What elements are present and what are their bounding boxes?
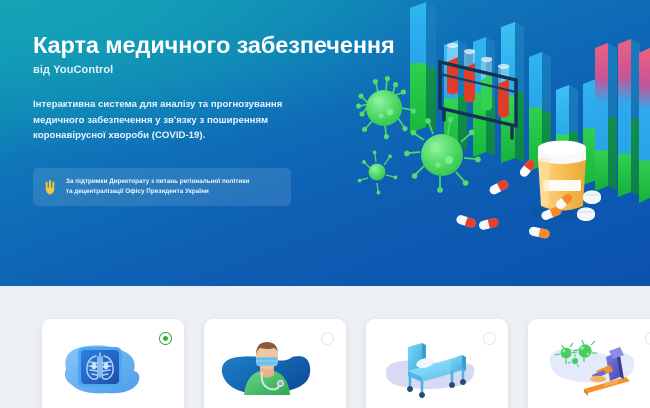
support-badge: За підтримки Директорату з питань регіон… xyxy=(33,168,291,206)
hero-section: Карта медичного забезпечення від YouCont… xyxy=(0,0,650,286)
card-hospital-bed[interactable] xyxy=(366,319,508,408)
support-badge-line1: За підтримки Директорату з питань регіон… xyxy=(66,178,249,185)
support-badge-text: За підтримки Директорату з питань регіон… xyxy=(66,177,249,197)
card-lungs-xray[interactable] xyxy=(42,319,184,408)
card-radio-doctor[interactable] xyxy=(321,332,334,345)
lungs-xray-icon xyxy=(54,333,158,401)
landing-page: Карта медичного забезпечення від YouCont… xyxy=(0,0,650,408)
card-microscope[interactable] xyxy=(528,319,650,408)
hero-description: Інтерактивна система для аналізу та прог… xyxy=(33,97,301,144)
category-cards-row xyxy=(0,319,650,408)
ukraine-trident-icon xyxy=(43,178,57,196)
hero-content: Карта медичного забезпечення від YouCont… xyxy=(33,32,353,206)
hero-subtitle: від YouControl xyxy=(33,64,353,76)
card-radio-microscope[interactable] xyxy=(645,332,650,345)
support-badge-line2: та децентралізації Офісу Президента Укра… xyxy=(66,188,209,195)
card-doctor[interactable] xyxy=(204,319,346,408)
doctor-mask-icon xyxy=(216,333,320,401)
microscope-icon xyxy=(540,333,644,401)
virus-particle-large-1 xyxy=(356,76,416,139)
virus-particle-small xyxy=(358,151,398,195)
card-radio-hospital-bed[interactable] xyxy=(483,332,496,345)
category-cards-section xyxy=(0,286,650,408)
page-title: Карта медичного забезпечення xyxy=(33,32,353,59)
hospital-bed-icon xyxy=(378,333,482,401)
card-radio-lungs-xray[interactable] xyxy=(159,332,172,345)
